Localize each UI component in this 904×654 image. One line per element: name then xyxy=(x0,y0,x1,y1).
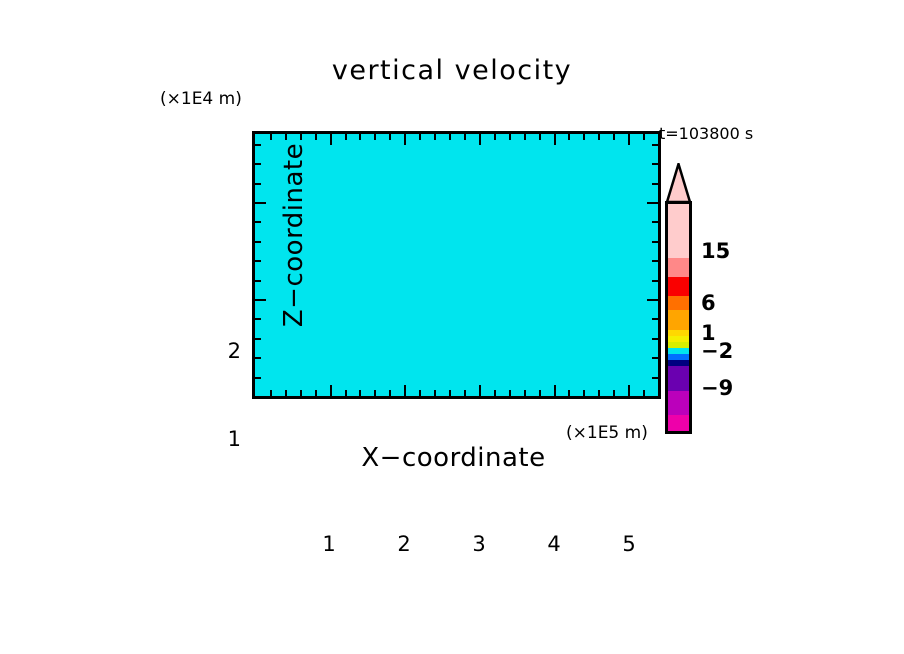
page-title: vertical velocity xyxy=(0,55,904,86)
y-tick xyxy=(255,144,261,146)
y-axis-unit-label: (×1E4 m) xyxy=(160,89,242,109)
y-axis-label: Z−coordinate xyxy=(279,95,309,375)
y-tick-right xyxy=(652,260,658,262)
x-tick-top xyxy=(568,134,570,140)
x-tick-top xyxy=(479,134,481,145)
y-tick-right xyxy=(652,163,658,165)
x-tick xyxy=(404,385,406,396)
x-tick xyxy=(270,390,272,396)
x-tick xyxy=(613,390,615,396)
y-tick-right xyxy=(652,357,658,359)
y-tick-right xyxy=(652,221,658,223)
x-tick xyxy=(345,390,347,396)
x-axis-label: X−coordinate xyxy=(252,443,655,473)
x-tick xyxy=(583,390,585,396)
x-tick xyxy=(359,390,361,396)
x-tick xyxy=(419,390,421,396)
velocity-field-heatmap xyxy=(255,134,658,396)
y-tick xyxy=(255,202,266,204)
x-tick xyxy=(524,390,526,396)
x-tick xyxy=(300,390,302,396)
y-tick-right xyxy=(652,280,658,282)
x-tick-top xyxy=(315,134,317,140)
y-tick xyxy=(255,280,261,282)
x-tick-top xyxy=(643,134,645,140)
colorbar-segment-12 xyxy=(668,391,689,415)
y-tick-right xyxy=(652,318,658,320)
y-tick-label-2: 2 xyxy=(211,339,241,363)
colorbar-label-6: 6 xyxy=(701,291,716,315)
x-tick-top xyxy=(374,134,376,140)
x-tick xyxy=(464,390,466,396)
colorbar-label-minus9: −9 xyxy=(701,376,733,400)
y-tick-right xyxy=(652,241,658,243)
colorbar-segment-3 xyxy=(668,296,689,310)
x-tick-top xyxy=(628,134,630,145)
y-tick-right xyxy=(652,144,658,146)
y-tick xyxy=(255,318,261,320)
x-tick xyxy=(449,390,451,396)
x-tick-label-1: 1 xyxy=(309,532,349,556)
x-tick-label-5: 5 xyxy=(609,532,649,556)
x-tick-top xyxy=(345,134,347,140)
colorbar-segments xyxy=(665,201,692,434)
y-tick xyxy=(255,377,261,379)
x-tick-label-4: 4 xyxy=(534,532,574,556)
x-tick xyxy=(434,390,436,396)
x-tick xyxy=(539,390,541,396)
y-tick xyxy=(255,183,261,185)
colorbar-arrow-icon xyxy=(665,163,692,203)
x-tick xyxy=(509,390,511,396)
colorbar-segment-4 xyxy=(668,310,689,330)
x-tick xyxy=(554,385,556,396)
x-tick-label-3: 3 xyxy=(459,532,499,556)
x-tick xyxy=(389,390,391,396)
x-axis-unit-label: (×1E5 m) xyxy=(566,423,648,443)
y-tick xyxy=(255,241,261,243)
y-tick-right xyxy=(652,183,658,185)
x-tick xyxy=(643,390,645,396)
x-tick-top xyxy=(613,134,615,140)
x-tick-top xyxy=(419,134,421,140)
y-tick-right xyxy=(652,338,658,340)
x-tick-top xyxy=(285,134,287,140)
y-tick xyxy=(255,338,261,340)
colorbar-segment-0 xyxy=(668,204,689,258)
x-tick xyxy=(628,385,630,396)
y-tick xyxy=(255,299,266,301)
x-tick xyxy=(494,390,496,396)
x-tick-top xyxy=(404,134,406,145)
x-tick xyxy=(315,390,317,396)
x-tick xyxy=(598,390,600,396)
x-tick-top xyxy=(359,134,361,140)
x-tick xyxy=(374,390,376,396)
y-tick-right xyxy=(647,299,658,301)
x-tick-top xyxy=(598,134,600,140)
x-tick-top xyxy=(330,134,332,145)
y-tick xyxy=(255,163,261,165)
colorbar-label-minus2: −2 xyxy=(701,339,733,363)
colorbar-segment-11 xyxy=(668,366,689,391)
x-tick-top xyxy=(539,134,541,140)
y-tick xyxy=(255,260,261,262)
x-tick xyxy=(568,390,570,396)
x-tick-top xyxy=(494,134,496,140)
plot-area: Z−coordinate 1 2 1 2 3 4 5 xyxy=(252,131,661,399)
x-tick xyxy=(479,385,481,396)
x-tick xyxy=(330,385,332,396)
x-tick-top xyxy=(464,134,466,140)
colorbar-segment-1 xyxy=(668,258,689,277)
colorbar-segment-2 xyxy=(668,277,689,296)
colorbar-segment-13 xyxy=(668,415,689,431)
x-tick-label-2: 2 xyxy=(384,532,424,556)
x-tick-top xyxy=(449,134,451,140)
x-tick xyxy=(285,390,287,396)
y-tick xyxy=(255,221,261,223)
y-tick-right xyxy=(647,202,658,204)
x-tick-top xyxy=(300,134,302,140)
x-tick-top xyxy=(389,134,391,140)
x-tick-top xyxy=(509,134,511,140)
y-tick-right xyxy=(652,377,658,379)
colorbar-label-15: 15 xyxy=(701,239,730,263)
x-tick-top xyxy=(583,134,585,140)
x-tick-top xyxy=(270,134,272,140)
x-tick-top xyxy=(434,134,436,140)
x-tick-top xyxy=(554,134,556,145)
x-tick-top xyxy=(524,134,526,140)
time-annotation: t=103800 s xyxy=(659,124,753,143)
y-tick-label-1: 1 xyxy=(211,427,241,451)
y-tick xyxy=(255,357,261,359)
